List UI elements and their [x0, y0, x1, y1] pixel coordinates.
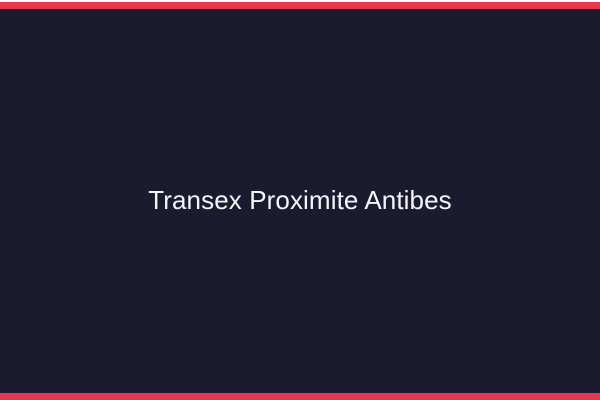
top-accent-bar [0, 2, 600, 9]
placeholder-card: Transex Proximite Antibes [0, 0, 600, 400]
bottom-accent-bar [0, 393, 600, 400]
panel-caption-text: Transex Proximite Antibes [148, 185, 452, 216]
caption-panel: Transex Proximite Antibes [0, 9, 600, 393]
